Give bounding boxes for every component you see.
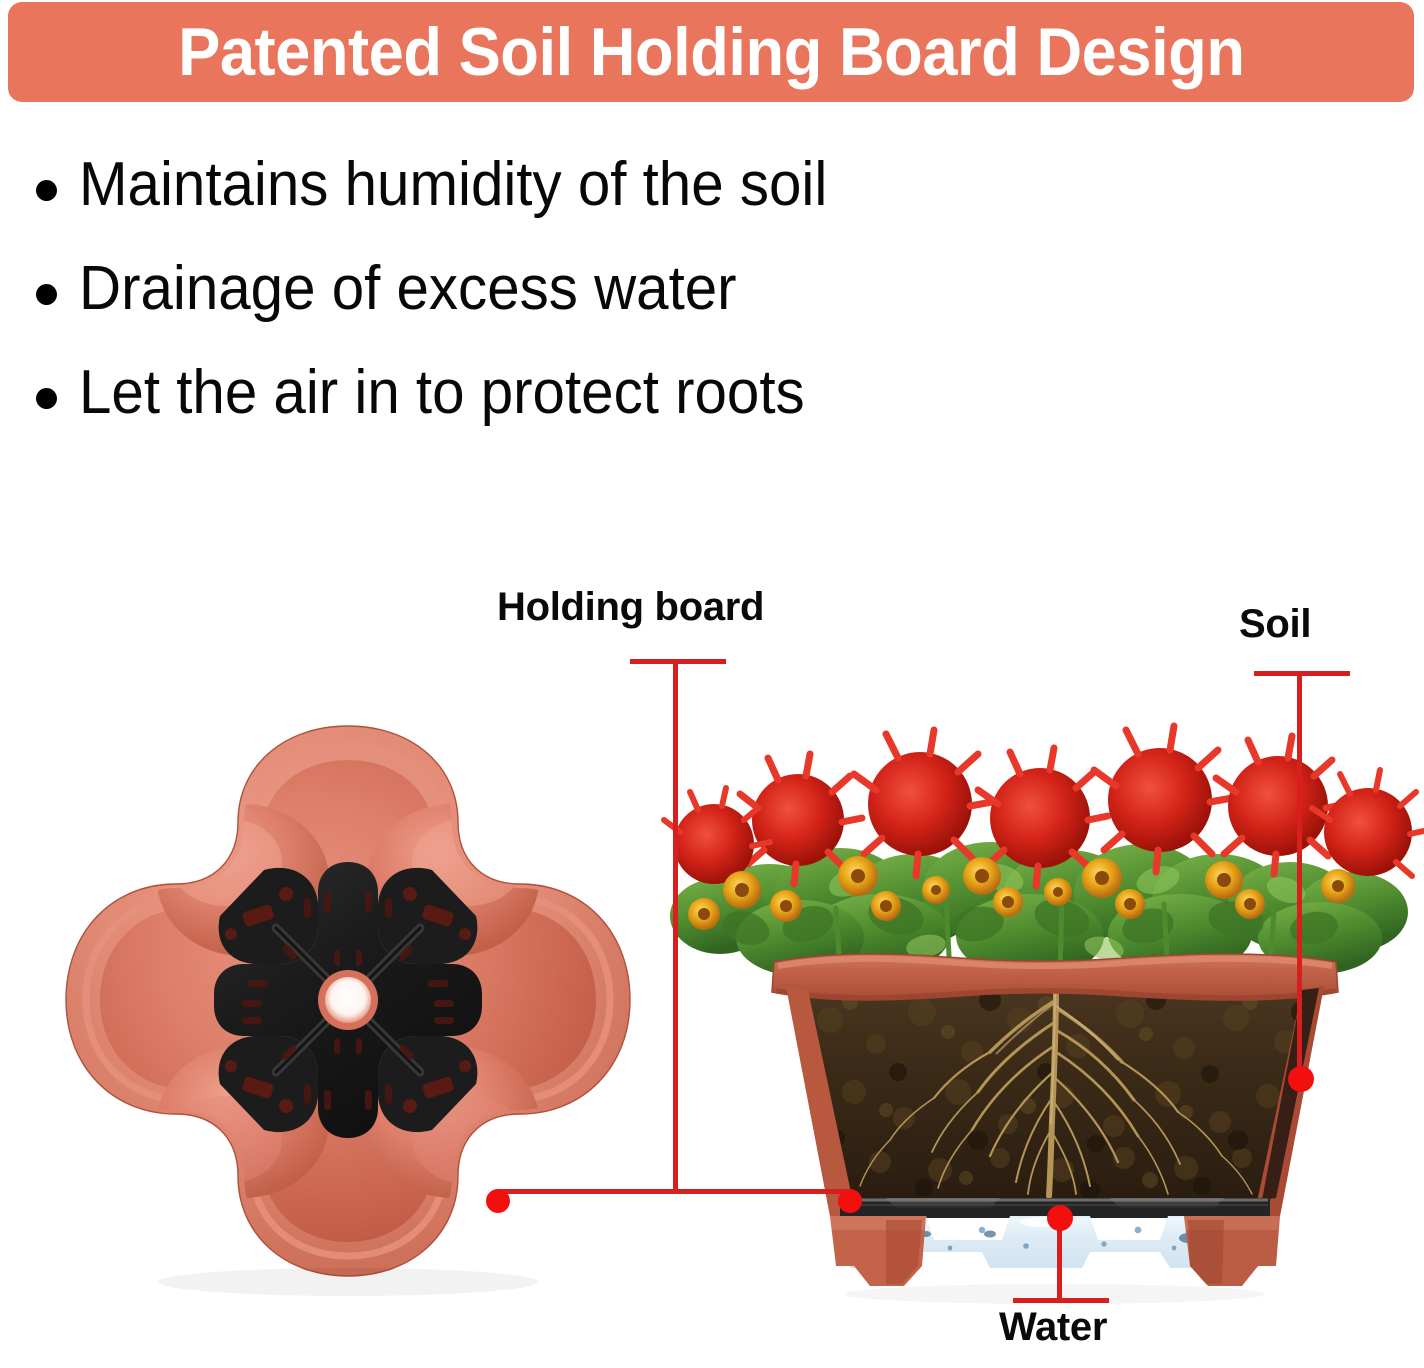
soil-leader-vertical xyxy=(1297,671,1302,1077)
soil-holding-board xyxy=(214,862,482,1138)
holding-board-leader-cap xyxy=(630,659,726,664)
soil-leader-cap xyxy=(1254,671,1350,676)
feature-text: Maintains humidity of the soil xyxy=(79,152,827,218)
soil-fill xyxy=(791,988,1319,1200)
callout-label-water: Water xyxy=(999,1305,1107,1350)
callout-label-holding-board: Holding board xyxy=(497,585,764,630)
product-image-top-view xyxy=(48,712,648,1312)
clover-planter-svg xyxy=(48,712,648,1312)
infographic-page: Patented Soil Holding Board Design Maint… xyxy=(0,0,1424,1368)
planter-shadow xyxy=(158,1268,538,1296)
feature-list: Maintains humidity of the soil Drainage … xyxy=(36,152,1096,464)
plant-foliage xyxy=(664,726,1424,978)
feature-text: Drainage of excess water xyxy=(79,256,737,322)
page-title: Patented Soil Holding Board Design xyxy=(178,18,1244,86)
callout-label-soil: Soil xyxy=(1239,602,1311,647)
water-marker xyxy=(1047,1205,1073,1231)
list-item: Let the air in to protect roots xyxy=(36,360,1096,464)
pot-rim xyxy=(772,954,1338,1000)
soil-marker xyxy=(1288,1066,1314,1092)
red-chrysanthemum-flowers xyxy=(664,726,1424,886)
holding-board-marker-right xyxy=(838,1189,862,1213)
center-drain-hole xyxy=(318,970,378,1030)
header-banner: Patented Soil Holding Board Design xyxy=(8,2,1414,102)
bullet-dot-icon xyxy=(36,388,57,409)
list-item: Drainage of excess water xyxy=(36,256,1096,360)
feature-text: Let the air in to protect roots xyxy=(79,360,805,426)
holding-board-leader-vertical xyxy=(673,659,678,1192)
holding-board-marker-left xyxy=(486,1189,510,1213)
water-leader-cap xyxy=(1013,1298,1109,1303)
bullet-dot-icon xyxy=(36,180,57,201)
list-item: Maintains humidity of the soil xyxy=(36,152,1096,256)
holding-board-leader-horizontal xyxy=(497,1189,851,1194)
bullet-dot-icon xyxy=(36,284,57,305)
